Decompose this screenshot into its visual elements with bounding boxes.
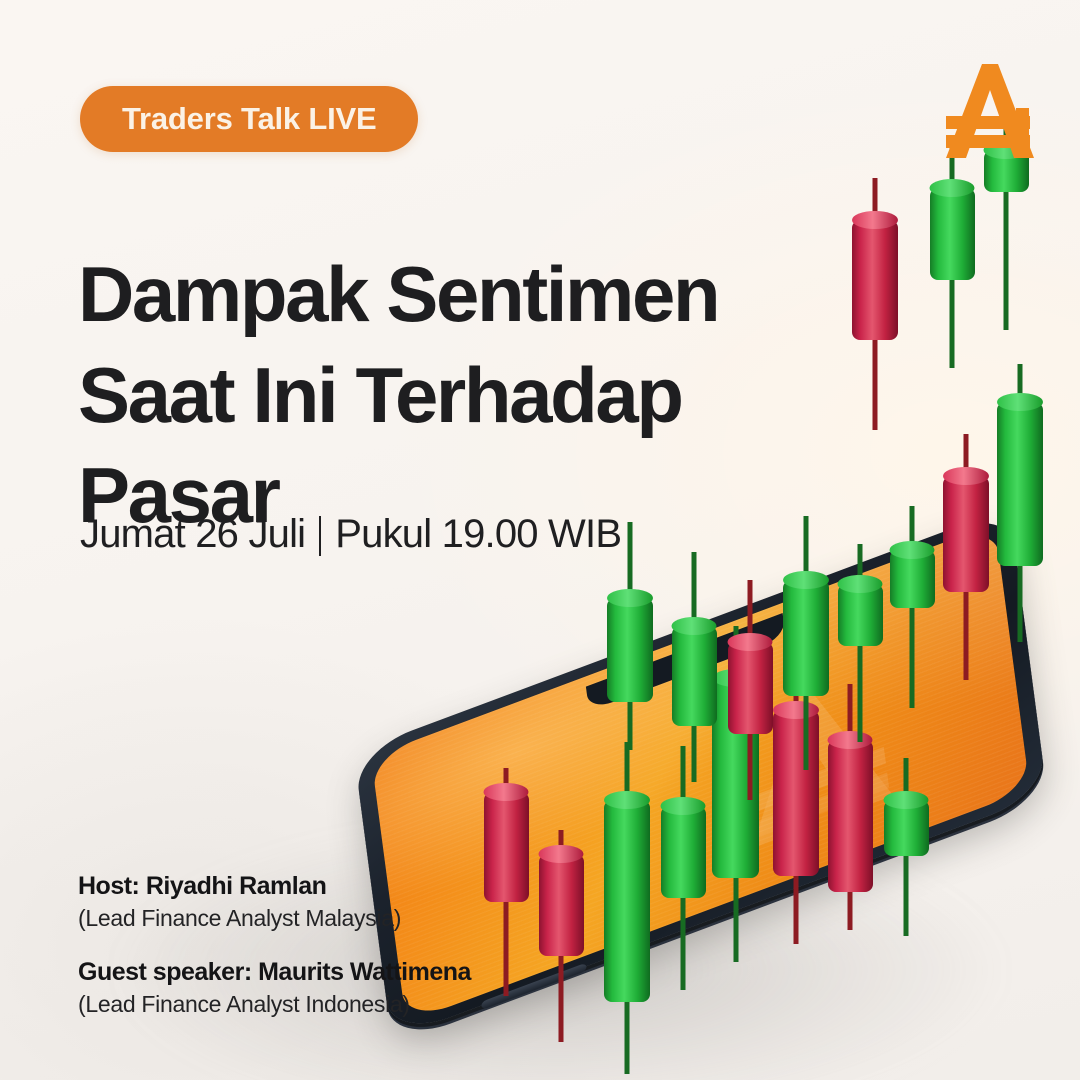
speaker-credits: Host: Riyadhi Ramlan (Lead Finance Analy… [78, 872, 598, 1018]
host-name: Host: Riyadhi Ramlan [78, 872, 598, 901]
live-badge[interactable]: Traders Talk LIVE [80, 86, 418, 152]
host-role: (Lead Finance Analyst Malaysia) [78, 905, 598, 932]
schedule-separator [319, 516, 321, 556]
event-time: Pukul 19.00 WIB [335, 512, 621, 557]
guest-name: Guest speaker: Maurits Wattimena [78, 958, 598, 987]
headline-line-1: Dampak Sentimen [78, 244, 838, 345]
promo-poster: Traders Talk LIVE Dampak Sentimen Saat I… [0, 0, 1080, 1080]
credit-host: Host: Riyadhi Ramlan (Lead Finance Analy… [78, 872, 598, 932]
live-badge-label: Traders Talk LIVE [122, 101, 376, 137]
guest-role: (Lead Finance Analyst Indonesia) [78, 991, 598, 1018]
event-date: Jumat 26 Juli [80, 512, 305, 557]
headline-line-2: Saat Ini Terhadap [78, 345, 838, 446]
credit-guest: Guest speaker: Maurits Wattimena (Lead F… [78, 958, 598, 1018]
brand-logo-a-icon [930, 56, 1050, 166]
page-title: Dampak Sentimen Saat Ini Terhadap Pasar [78, 244, 838, 546]
event-schedule: Jumat 26 Juli Pukul 19.00 WIB [80, 512, 621, 557]
